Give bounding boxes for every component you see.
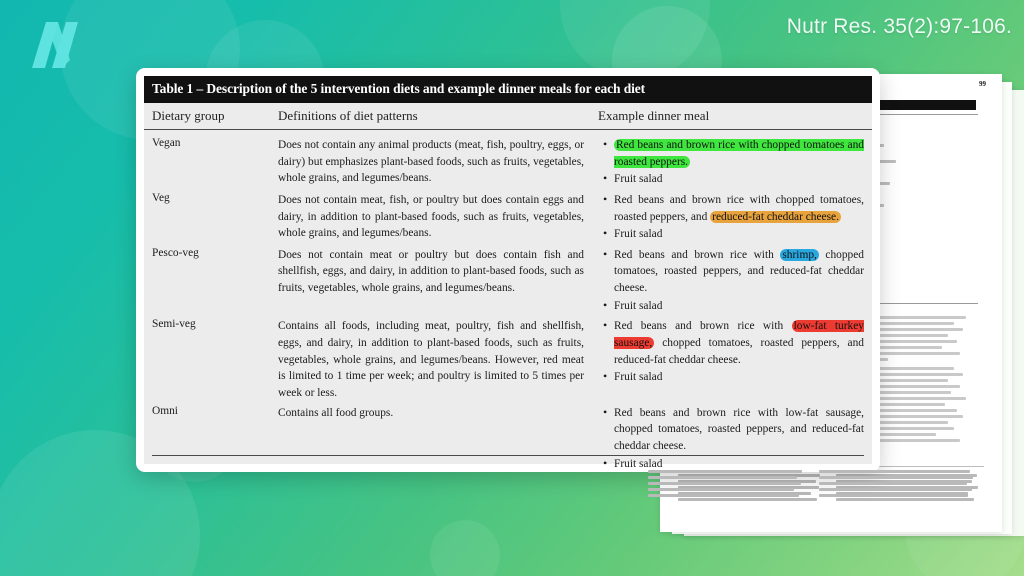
column-header-definitions: Definitions of diet patterns — [278, 108, 598, 124]
table-row: OmniContains all food groups.Red beans a… — [152, 402, 864, 474]
page-number: 99 — [979, 80, 986, 88]
cell-example-meal: Red beans and brown rice with low-fat tu… — [598, 315, 864, 401]
page-bottom-columns — [648, 470, 978, 500]
meal-list-item: Red beans and brown rice with chopped to… — [602, 192, 864, 225]
meal-list-item: Red beans and brown rice with low-fat sa… — [602, 405, 864, 455]
table-row: VeganDoes not contain any animal product… — [152, 134, 864, 189]
background-circle — [430, 520, 500, 576]
table-row: Pesco-vegDoes not contain meat or poultr… — [152, 244, 864, 316]
citation-text: Nutr Res. 35(2):97-106. — [787, 15, 1012, 39]
meal-list-item: Fruit salad — [602, 171, 864, 188]
cell-dietary-group: Veg — [152, 189, 278, 244]
table-title: Table 1 – Description of the 5 intervent… — [144, 76, 872, 103]
column-header-dietary-group: Dietary group — [152, 108, 278, 124]
meal-list: Red beans and brown rice with low-fat sa… — [602, 405, 864, 473]
cell-dietary-group: Semi-veg — [152, 315, 278, 401]
meal-list: Red beans and brown rice with chopped to… — [602, 192, 864, 243]
meal-list: Red beans and brown rice with low-fat tu… — [602, 318, 864, 386]
cell-definition: Does not contain meat or poultry but doe… — [278, 244, 598, 316]
highlight-red: low-fat turkey sausage, — [614, 320, 864, 349]
meal-list-item: Fruit salad — [602, 298, 864, 315]
meal-list: Red beans and brown rice with chopped to… — [602, 137, 864, 188]
meal-list-item: Red beans and brown rice with chopped to… — [602, 137, 864, 170]
highlight-green: Red beans and brown rice with chopped to… — [614, 139, 864, 168]
cell-example-meal: Red beans and brown rice with chopped to… — [598, 189, 864, 244]
cell-definition: Does not contain meat, fish, or poultry … — [278, 189, 598, 244]
table-card: Table 1 – Description of the 5 intervent… — [136, 68, 880, 472]
highlight-blue: shrimp, — [780, 249, 819, 261]
meal-list-item: Red beans and brown rice with shrimp, ch… — [602, 247, 864, 297]
meal-list: Red beans and brown rice with shrimp, ch… — [602, 247, 864, 315]
meal-list-item: Fruit salad — [602, 369, 864, 386]
cell-definition: Contains all foods, including meat, poul… — [278, 315, 598, 401]
table-container: Table 1 – Description of the 5 intervent… — [144, 76, 872, 464]
highlight-orange: reduced-fat cheddar cheese. — [710, 211, 841, 223]
table-row: VegDoes not contain meat, fish, or poult… — [152, 189, 864, 244]
meal-list-item: Red beans and brown rice with low-fat tu… — [602, 318, 864, 368]
cell-example-meal: Red beans and brown rice with low-fat sa… — [598, 402, 864, 474]
cell-definition: Contains all food groups. — [278, 402, 598, 474]
meal-list-item: Fruit salad — [602, 226, 864, 243]
cell-example-meal: Red beans and brown rice with chopped to… — [598, 134, 864, 189]
table-body: VeganDoes not contain any animal product… — [144, 130, 872, 473]
cell-dietary-group: Pesco-veg — [152, 244, 278, 316]
cell-definition: Does not contain any animal products (me… — [278, 134, 598, 189]
table-header-row: Dietary group Definitions of diet patter… — [144, 103, 872, 130]
n-logo-icon — [18, 14, 102, 76]
table-row: Semi-vegContains all foods, including me… — [152, 315, 864, 401]
table-bottom-rule — [152, 455, 864, 456]
column-header-example-meal: Example dinner meal — [598, 108, 864, 124]
cell-example-meal: Red beans and brown rice with shrimp, ch… — [598, 244, 864, 316]
cell-dietary-group: Vegan — [152, 134, 278, 189]
cell-dietary-group: Omni — [152, 402, 278, 474]
